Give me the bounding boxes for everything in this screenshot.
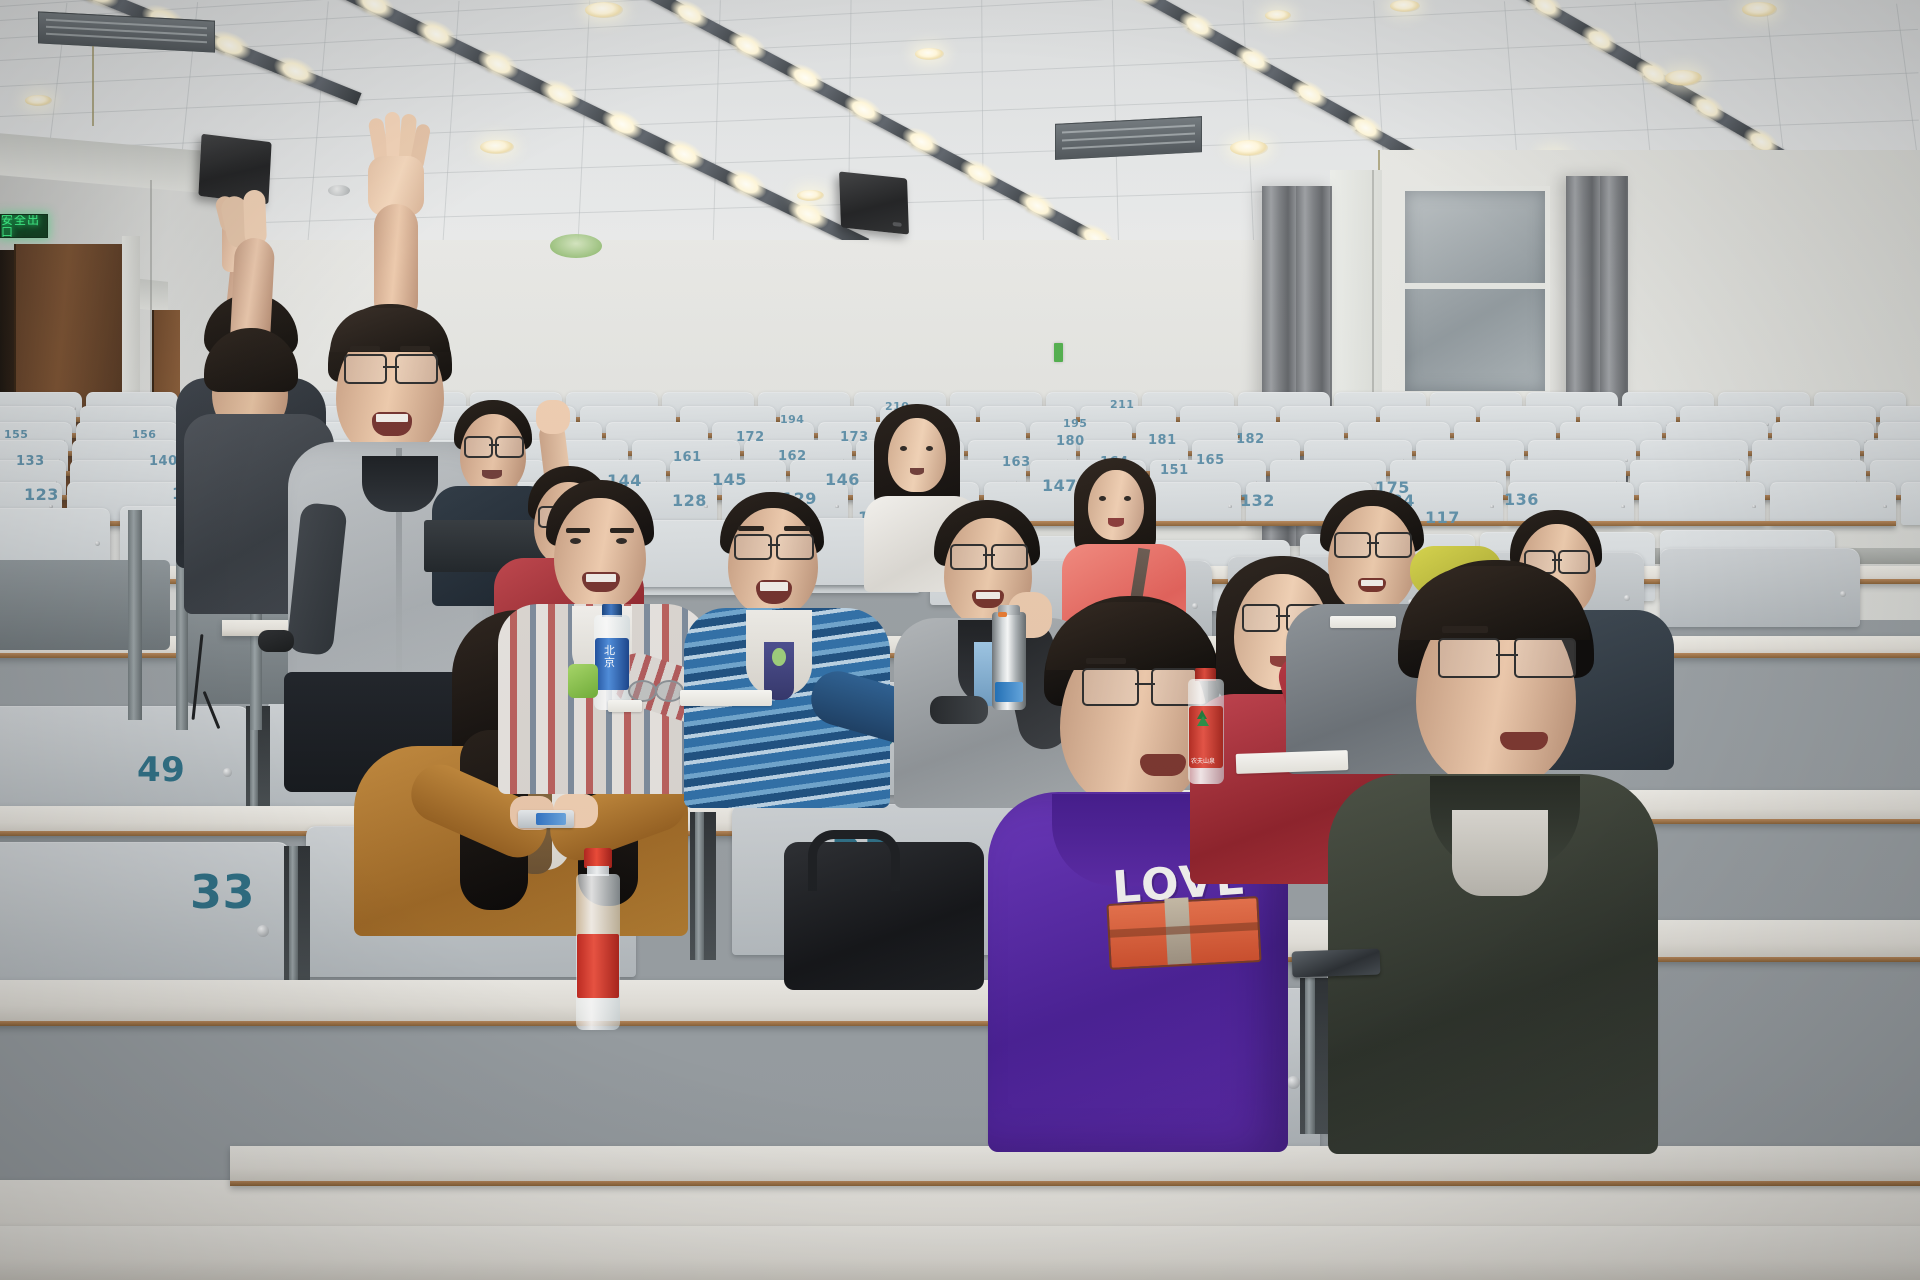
ceiling-downlight xyxy=(480,140,514,154)
backpack xyxy=(784,842,984,990)
lecture-hall-photo: 安全出口 12312413314014414514614715515616116… xyxy=(0,0,1920,1280)
ceiling-downlight xyxy=(797,190,824,201)
seat-number: 151 xyxy=(1160,463,1189,478)
seat-number: 128 xyxy=(672,491,707,510)
seat-leg xyxy=(1305,978,1315,1134)
seat-leg xyxy=(695,812,704,960)
ceiling-downlight xyxy=(1665,70,1702,86)
ceiling-downlight xyxy=(915,48,944,60)
seat-number: 162 xyxy=(778,449,807,464)
water-bottle-clear xyxy=(572,848,624,1030)
seat-bolt xyxy=(223,768,232,777)
ceiling-hanger xyxy=(92,46,94,126)
seat-back[interactable] xyxy=(0,706,250,819)
seat-back[interactable] xyxy=(1660,548,1860,627)
foreground-desk xyxy=(0,1226,1920,1280)
bottle-label: 北京 xyxy=(595,638,629,690)
seat-number: 140 xyxy=(149,454,178,469)
seat-number: 136 xyxy=(1504,490,1539,509)
desk-edge xyxy=(230,1181,1920,1186)
seat-number: 182 xyxy=(1236,432,1265,447)
seat-number: 163 xyxy=(1002,455,1031,470)
seat-number: 165 xyxy=(1196,453,1225,468)
seat-number: 161 xyxy=(673,450,702,465)
seat-back[interactable] xyxy=(1639,482,1765,525)
thermos-flask xyxy=(992,612,1026,710)
exit-sign-text: 安全出口 xyxy=(1,214,47,238)
ceiling-vent xyxy=(1055,116,1202,160)
paper-sheet xyxy=(608,700,642,712)
exit-sign: 安全出口 xyxy=(0,214,48,238)
seat-number: 180 xyxy=(1056,434,1085,449)
ceiling-downlight xyxy=(1742,2,1777,17)
glasses-icon xyxy=(734,534,814,556)
ceiling-downlight xyxy=(25,95,52,106)
paper-sheet xyxy=(1236,750,1349,774)
mouse-device xyxy=(258,630,294,652)
seat-number: 194 xyxy=(780,413,804,426)
seat-number: 117 xyxy=(1425,508,1460,527)
bottle-label: 农夫山泉 xyxy=(1189,706,1223,768)
glasses-icon xyxy=(344,354,438,380)
sunglasses-icon xyxy=(628,680,684,698)
green-item xyxy=(568,664,598,698)
desk-surface xyxy=(230,1146,1920,1186)
glasses-icon xyxy=(950,544,1028,566)
window xyxy=(1400,186,1550,396)
smoke-detector-icon xyxy=(328,185,350,196)
notebook-paper xyxy=(680,690,772,706)
glasses-icon xyxy=(464,436,524,454)
seat-number: 133 xyxy=(16,454,45,469)
seat-number: 181 xyxy=(1148,433,1177,448)
wall-emblem-icon xyxy=(550,234,602,258)
seat-number: 49 xyxy=(137,750,185,790)
seat-frame-post xyxy=(128,510,142,720)
desk-small-item xyxy=(518,810,574,828)
seat-number: 33 xyxy=(190,865,255,919)
seat-leg xyxy=(289,846,298,994)
ceiling-downlight xyxy=(585,2,623,18)
seat-number: 132 xyxy=(1240,491,1275,510)
seat-back[interactable] xyxy=(1770,482,1896,525)
desk-edge xyxy=(0,1021,1120,1026)
ceiling-downlight xyxy=(1230,140,1268,156)
speaker-icon xyxy=(839,171,909,234)
seat-pan[interactable] xyxy=(0,560,170,650)
paper-sheet xyxy=(1330,616,1396,628)
seat-number: 145 xyxy=(712,470,747,489)
seat-bolt xyxy=(257,925,269,937)
glasses-icon xyxy=(1438,638,1576,674)
water-bottle-blue: 北京 xyxy=(592,604,632,710)
seat-number: 155 xyxy=(4,428,28,441)
seat-bolt xyxy=(1287,1076,1300,1089)
seat-bolt xyxy=(1625,459,1628,462)
seat-number: 211 xyxy=(1110,398,1134,411)
wall-green-tag-icon xyxy=(1054,343,1063,362)
glasses-icon xyxy=(1334,532,1412,554)
seat-number: 173 xyxy=(840,430,869,445)
seat-number: 195 xyxy=(1063,417,1087,430)
bottle-label xyxy=(577,934,619,998)
seat-number: 146 xyxy=(825,470,860,489)
seat-back[interactable] xyxy=(1901,482,1920,525)
water-bottle-nongfu: 农夫山泉 xyxy=(1185,668,1225,784)
seat-bolt xyxy=(95,541,100,546)
seat-number: 123 xyxy=(24,485,59,504)
seat-number: 172 xyxy=(736,430,765,445)
mobile-phone xyxy=(1292,948,1381,977)
seat-number: 156 xyxy=(132,428,156,441)
seat-number: 147 xyxy=(1042,476,1077,495)
